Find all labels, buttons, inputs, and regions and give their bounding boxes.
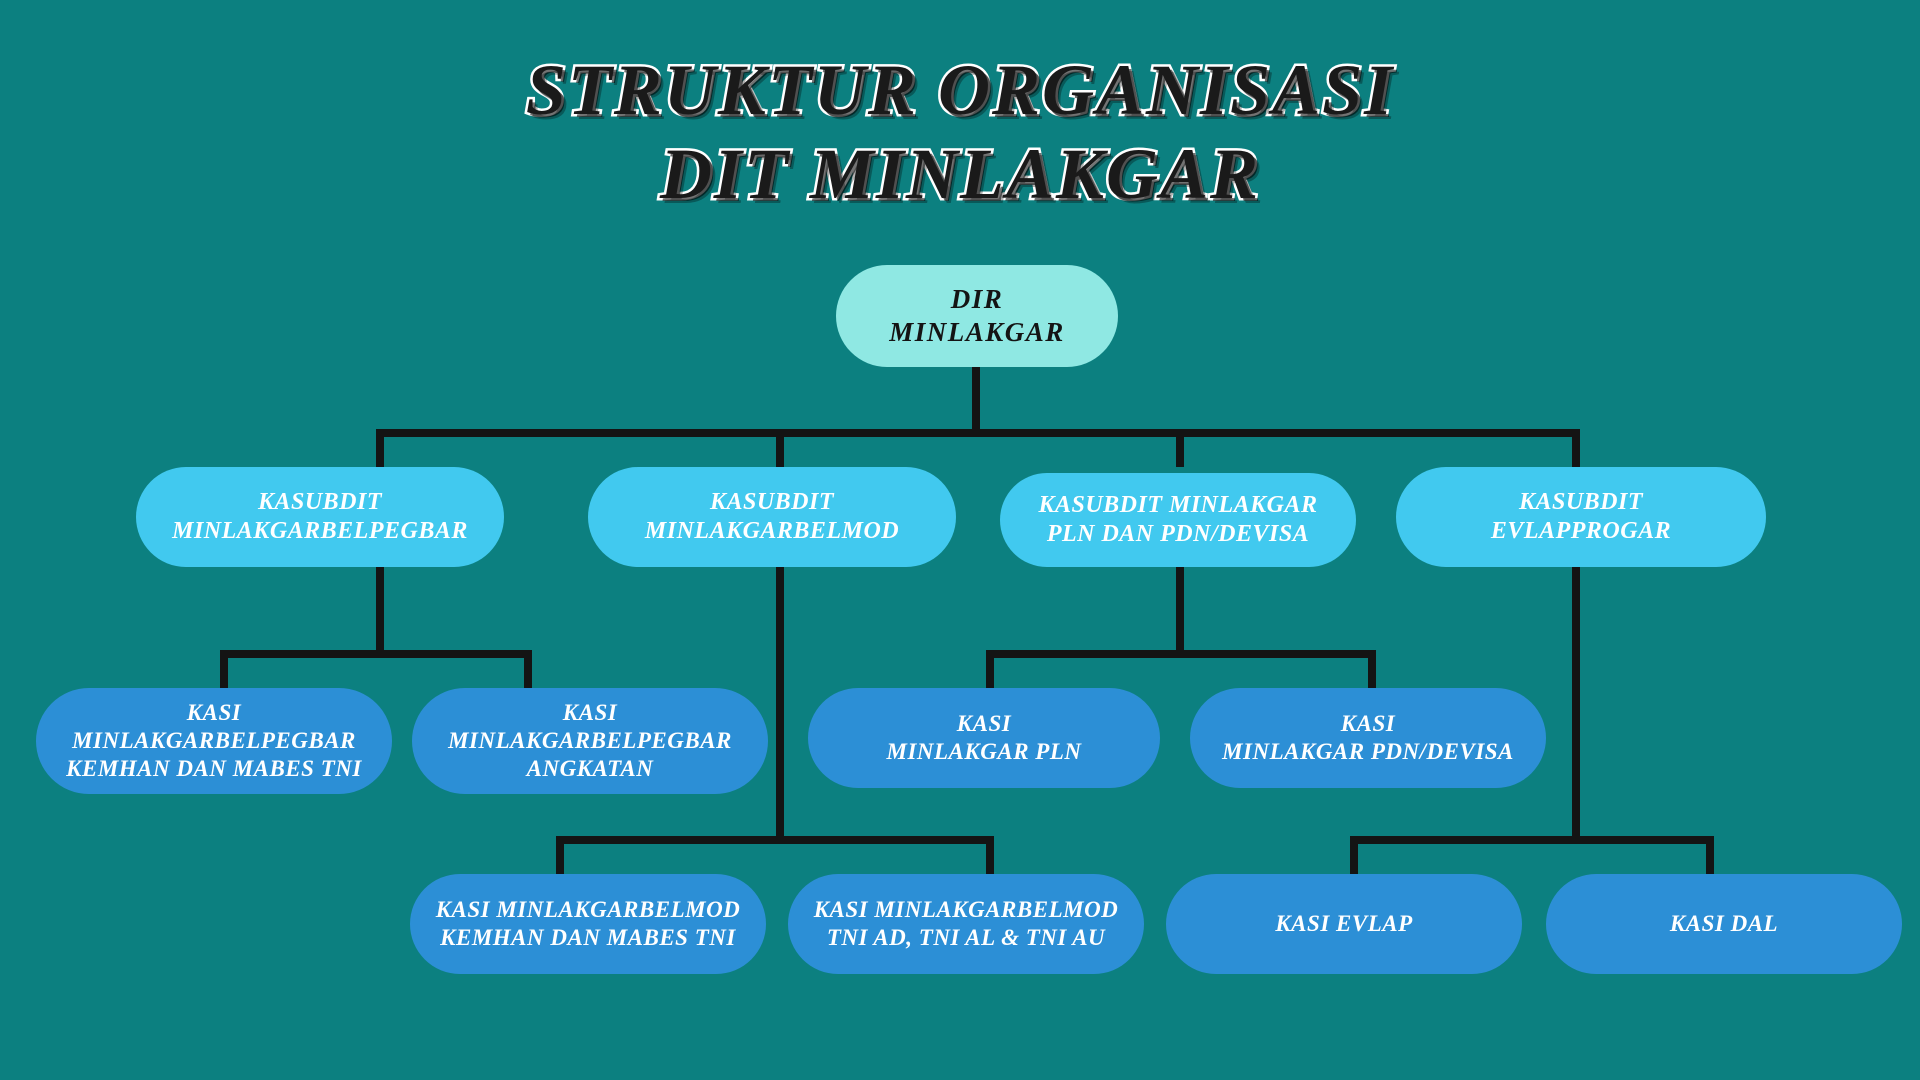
connector-drop-kasi-belmod-kemhan [556,836,564,874]
connector-bus-evlapprogar [1350,836,1714,844]
chart-title-line-2: DIT MINLAKGAR [0,132,1920,216]
node-kasi-minlakgarbelmod-kemhan-line-1: KASI MINLAKGARBELMOD [424,896,752,924]
connector-drop-kasi-minlakgar-pln [986,650,994,688]
node-kasi-minlakgarbelpegbar-angkatan-line-3: ANGKATAN [426,755,754,783]
node-kasubdit-minlakgar-pln-dan-pdn-devisa-line-2: PLN DAN PDN/DEVISA [1014,520,1342,549]
node-kasi-minlakgarbelpegbar-kemhan-dan-mabes-tni[interactable]: KASI MINLAKGARBELPEGBAR KEMHAN DAN MABES… [36,688,392,794]
node-kasi-evlap[interactable]: KASI EVLAP [1166,874,1522,974]
node-kasi-minlakgarbelpegbar-kemhan-line-1: KASI [50,699,378,727]
node-dir-minlakgar-line-1: DIR [850,283,1104,316]
node-kasi-minlakgarbelmod-tni-line-2: TNI AD, TNI AL & TNI AU [802,924,1130,952]
connector-drop-kasi-belmod-tni [986,836,994,874]
connector-drop-kasubdit-pln-pdn [1176,429,1184,467]
node-kasi-minlakgarbelpegbar-kemhan-line-3: KEMHAN DAN MABES TNI [50,755,378,783]
node-kasi-minlakgarbelmod-kemhan-dan-mabes-tni[interactable]: KASI MINLAKGARBELMOD KEMHAN DAN MABES TN… [410,874,766,974]
node-kasi-dal-line-1: KASI DAL [1560,910,1888,938]
node-kasi-minlakgarbelpegbar-kemhan-line-2: MINLAKGARBELPEGBAR [50,727,378,755]
connector-bus-belpegbar [220,650,532,658]
connector-drop-kasi-evlap [1350,836,1358,874]
connector-stem-pln-pdn [1176,567,1184,650]
chart-title: STRUKTUR ORGANISASI DIT MINLAKGAR [0,48,1920,216]
node-kasubdit-evlapprogar-line-1: KASUBDIT [1410,488,1752,517]
node-kasubdit-minlakgarbelpegbar[interactable]: KASUBDIT MINLAKGARBELPEGBAR [136,467,504,567]
org-chart-canvas: STRUKTUR ORGANISASI DIT MINLAKGAR DIR MI… [0,0,1920,1080]
node-kasi-minlakgar-pdn-devisa-line-1: KASI [1204,710,1532,738]
node-kasi-dal[interactable]: KASI DAL [1546,874,1902,974]
connector-root-stem [972,367,980,429]
node-kasi-minlakgarbelmod-tni-ad-al-au[interactable]: KASI MINLAKGARBELMOD TNI AD, TNI AL & TN… [788,874,1144,974]
node-kasi-minlakgar-pln-line-1: KASI [822,710,1146,738]
connector-bus-pln-pdn [986,650,1376,658]
node-kasubdit-evlapprogar[interactable]: KASUBDIT EVLAPPROGAR [1396,467,1766,567]
chart-title-line-1: STRUKTUR ORGANISASI [0,48,1920,132]
node-kasi-minlakgarbelpegbar-angkatan[interactable]: KASI MINLAKGARBELPEGBAR ANGKATAN [412,688,768,794]
connector-drop-kasi-minlakgar-pdn-devisa [1368,650,1376,688]
node-kasi-evlap-line-1: KASI EVLAP [1180,910,1508,938]
node-kasubdit-minlakgarbelpegbar-line-2: MINLAKGARBELPEGBAR [150,517,490,546]
connector-drop-kasubdit-belpegbar [376,429,384,467]
node-kasubdit-minlakgar-pln-dan-pdn-devisa[interactable]: KASUBDIT MINLAKGAR PLN DAN PDN/DEVISA [1000,473,1356,567]
connector-stem-belpegbar [376,567,384,650]
connector-stem-belmod [776,567,784,836]
node-kasi-minlakgarbelpegbar-angkatan-line-2: MINLAKGARBELPEGBAR [426,727,754,755]
connector-level2-bus [376,429,1580,437]
connector-bus-belmod [556,836,994,844]
node-kasi-minlakgar-pln[interactable]: KASI MINLAKGAR PLN [808,688,1160,788]
connector-drop-kasi-dal [1706,836,1714,874]
connector-stem-evlapprogar [1572,567,1580,836]
connector-drop-kasubdit-belmod [776,429,784,467]
node-kasubdit-minlakgarbelmod[interactable]: KASUBDIT MINLAKGARBELMOD [588,467,956,567]
node-kasi-minlakgar-pln-line-2: MINLAKGAR PLN [822,738,1146,766]
node-kasubdit-minlakgar-pln-dan-pdn-devisa-line-1: KASUBDIT MINLAKGAR [1014,491,1342,520]
node-kasi-minlakgarbelmod-tni-line-1: KASI MINLAKGARBELMOD [802,896,1130,924]
node-kasi-minlakgarbelmod-kemhan-line-2: KEMHAN DAN MABES TNI [424,924,752,952]
node-kasi-minlakgar-pdn-devisa-line-2: MINLAKGAR PDN/DEVISA [1204,738,1532,766]
node-dir-minlakgar[interactable]: DIR MINLAKGAR [836,265,1118,367]
node-kasi-minlakgar-pdn-devisa[interactable]: KASI MINLAKGAR PDN/DEVISA [1190,688,1546,788]
node-kasubdit-minlakgarbelmod-line-2: MINLAKGARBELMOD [602,517,942,546]
node-kasubdit-minlakgarbelmod-line-1: KASUBDIT [602,488,942,517]
node-kasubdit-minlakgarbelpegbar-line-1: KASUBDIT [150,488,490,517]
node-kasi-minlakgarbelpegbar-angkatan-line-1: KASI [426,699,754,727]
connector-drop-kasi-belpegbar-kemhan [220,650,228,688]
connector-drop-kasubdit-evlapprogar [1572,429,1580,467]
node-kasubdit-evlapprogar-line-2: EVLAPPROGAR [1410,517,1752,546]
connector-drop-kasi-belpegbar-angkatan [524,650,532,688]
node-dir-minlakgar-line-2: MINLAKGAR [850,316,1104,349]
